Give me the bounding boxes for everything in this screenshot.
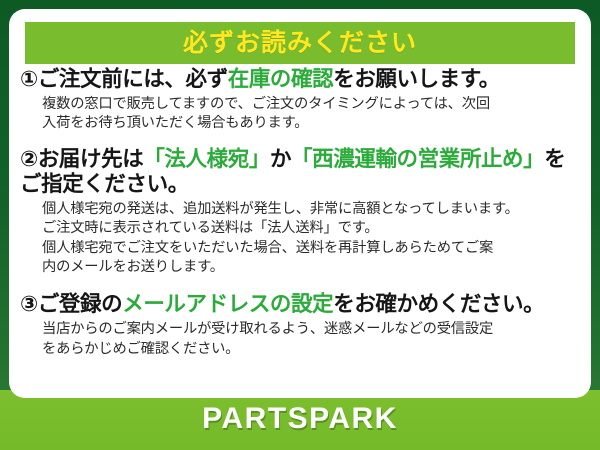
- notice-item-3-heading-highlight: メールアドレスの設定: [122, 292, 333, 316]
- white-panel: 必ずお読みください ①ご注文前には、必ず在庫の確認をお願いします。 複数の窓口で…: [9, 9, 591, 398]
- header-band: 必ずお読みください: [25, 22, 575, 64]
- notice-item-2-body-line-4: 内のメールをお送りします。: [42, 258, 579, 277]
- notice-item-1-body-line-2: 入荷をお待ち頂いただく場合もあります。: [42, 114, 579, 133]
- notice-item-3-body-line-2: をあらかじめご確認ください。: [42, 340, 579, 359]
- notice-item-2-heading-before: お届け先は: [38, 147, 144, 171]
- notice-item-3-heading-before: ご登録の: [38, 292, 122, 316]
- notice-item-2-marker: ②: [20, 147, 38, 171]
- notice-item-2-heading-highlight: 「法人様宛」: [143, 147, 270, 171]
- notice-item-3-heading-after: をお確かめください。: [333, 292, 544, 316]
- notice-item-2-body-line-2: ご注文時に表示されている送料は「法人送料」です。: [42, 219, 579, 238]
- notice-item-3-body: 当店からのご案内メールが受け取れるよう、迷惑メールなどの受信設定 をあらかじめご…: [42, 320, 579, 359]
- notice-item-2-body-line-1: 個人様宅宛の発送は、追加送料が発生し、非常に高額となってしまいます。: [42, 200, 579, 219]
- notice-item-2-body: 個人様宅宛の発送は、追加送料が発生し、非常に高額となってしまいます。 ご注文時に…: [42, 200, 579, 278]
- notice-item-2-heading: ②お届け先は「法人様宛」か「西濃運輸の営業所止め」をご指定ください。: [20, 147, 579, 197]
- notice-item-1-heading-before: ご注文前には、必ず: [38, 67, 228, 91]
- notice-item-2-heading-middle: か: [270, 147, 291, 171]
- notice-item-3: ③ご登録のメールアドレスの設定をお確かめください。 当店からのご案内メールが受け…: [9, 292, 591, 359]
- notice-item-1: ①ご注文前には、必ず在庫の確認をお願いします。 複数の窓口で販売してますので、ご…: [9, 67, 591, 134]
- notice-item-3-heading: ③ご登録のメールアドレスの設定をお確かめください。: [20, 292, 579, 317]
- notice-item-1-heading-after: をお願いします。: [333, 67, 500, 91]
- notice-item-1-heading: ①ご注文前には、必ず在庫の確認をお願いします。: [20, 67, 579, 92]
- notice-item-1-body: 複数の窓口で販売してますので、ご注文のタイミングによっては、次回 入荷をお待ち頂…: [42, 95, 579, 134]
- notice-item-2-body-line-3: 個人様宅宛でご注文をいただいた場合、送料を再計算しあらためてご案: [42, 239, 579, 258]
- notice-card: PARTSPARK 必ずお読みください ①ご注文前には、必ず在庫の確認をお願いし…: [0, 0, 600, 450]
- footer-band: PARTSPARK: [0, 390, 600, 450]
- brand-logo: PARTSPARK: [202, 404, 398, 436]
- page-title: 必ずお読みください: [183, 31, 417, 56]
- notice-list: ①ご注文前には、必ず在庫の確認をお願いします。 複数の窓口で販売してますので、ご…: [9, 67, 591, 359]
- notice-item-3-body-line-1: 当店からのご案内メールが受け取れるよう、迷惑メールなどの受信設定: [42, 320, 579, 339]
- notice-item-2: ②お届け先は「法人様宛」か「西濃運輸の営業所止め」をご指定ください。 個人様宅宛…: [9, 147, 591, 278]
- notice-item-2-heading-highlight-2: 「西濃運輸の営業所止め」: [291, 147, 544, 171]
- notice-item-1-heading-highlight: 在庫の確認: [228, 67, 334, 91]
- notice-item-3-marker: ③: [20, 292, 38, 316]
- notice-item-1-marker: ①: [20, 67, 38, 91]
- notice-item-1-body-line-1: 複数の窓口で販売してますので、ご注文のタイミングによっては、次回: [42, 95, 579, 114]
